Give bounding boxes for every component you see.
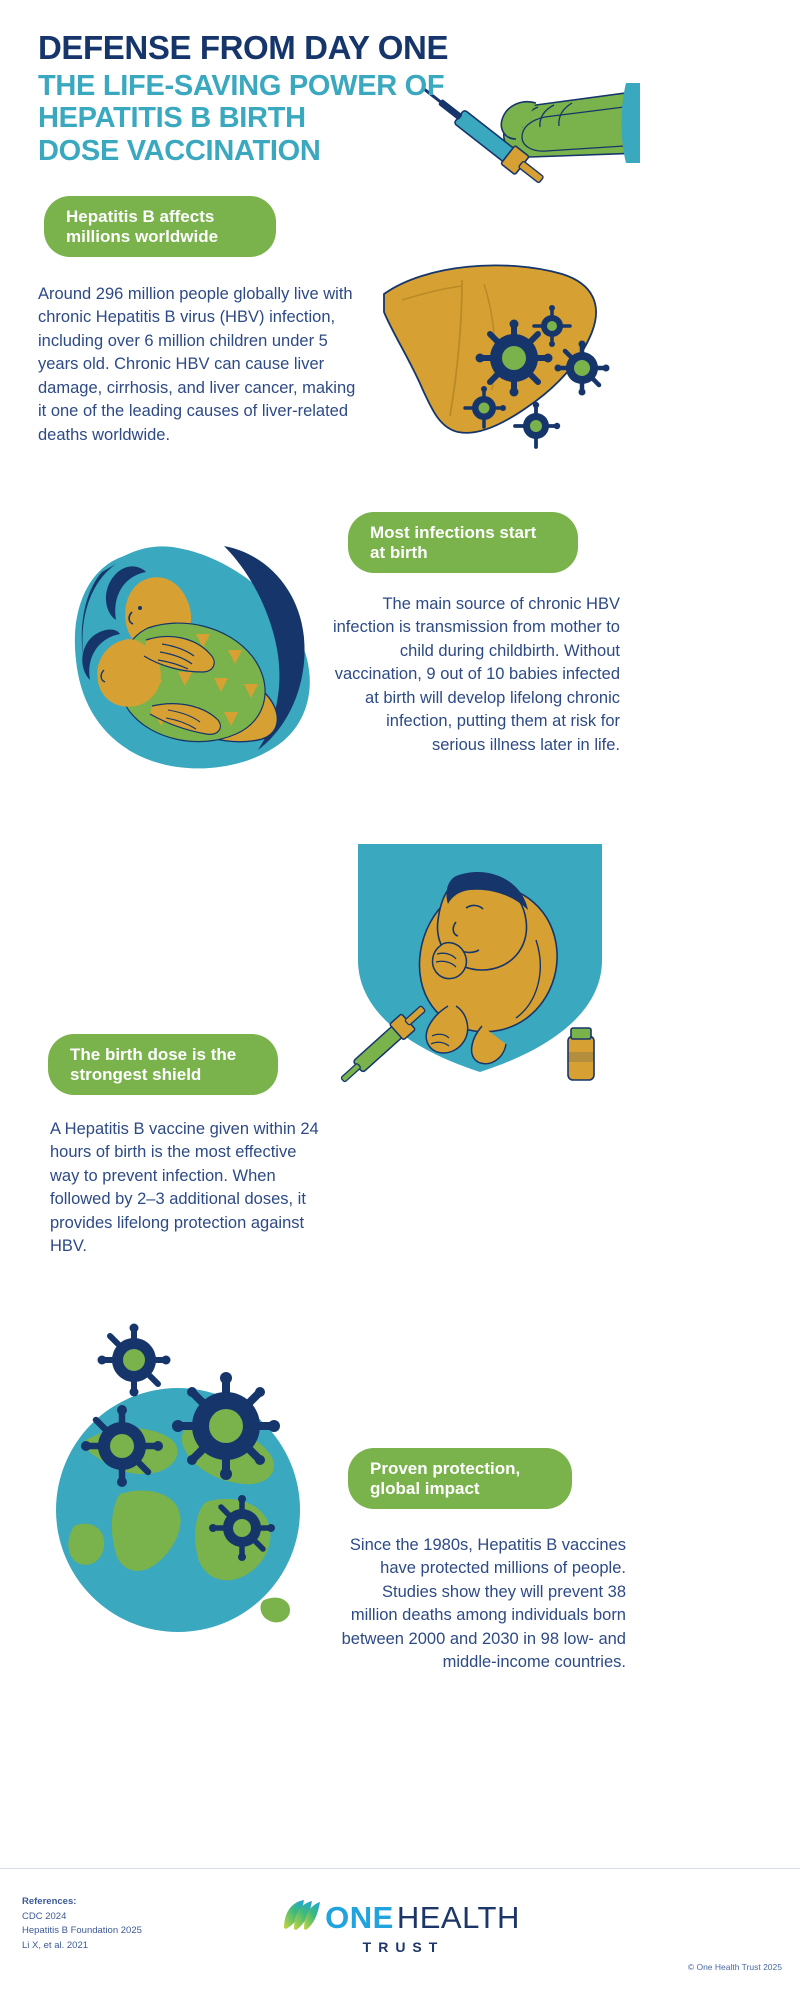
section-body-1: Around 296 million people globally live …: [38, 283, 356, 447]
infographic-page: DEFENSE FROM DAY ONE THE LIFE-SAVING POW…: [0, 0, 800, 2000]
globe-with-virus-particles-illustration: [28, 1310, 358, 1640]
leaf-icon: [280, 1898, 322, 1937]
section-body-2: The main source of chronic HBV infection…: [330, 593, 620, 757]
section-body-4: Since the 1980s, Hepatitis B vaccines ha…: [336, 1534, 626, 1675]
logo-text-one: ONE: [325, 1900, 394, 1936]
baby-in-protective-shield-illustration: [336, 830, 626, 1090]
logo-row: ONE HEALTH: [280, 1898, 520, 1937]
section-badge-2: Most infections start at birth: [348, 512, 578, 573]
page-subtitle: THE LIFE-SAVING POWER OF HEPATITIS B BIR…: [38, 70, 508, 167]
section-body-3: A Hepatitis B vaccine given within 24 ho…: [50, 1118, 330, 1259]
page-title: DEFENSE FROM DAY ONE: [38, 30, 508, 66]
liver-with-virus-particles-illustration: [366, 240, 626, 490]
section-badge-3: The birth dose is the strongest shield: [48, 1034, 278, 1095]
footer-divider: [0, 1868, 800, 1869]
section-badge-1: Hepatitis B affects millions worldwide: [44, 196, 276, 257]
section-badge-4-final: Proven protection, global impact: [348, 1448, 572, 1509]
page-header: DEFENSE FROM DAY ONE THE LIFE-SAVING POW…: [38, 30, 508, 167]
mother-holding-baby-illustration: [28, 520, 328, 800]
page-subtitle-line-3: DOSE VACCINATION: [38, 135, 508, 167]
page-subtitle-line-2: HEPATITIS B BIRTH: [38, 102, 508, 134]
one-health-trust-logo: ONE HEALTH TRUST: [0, 1898, 800, 1955]
page-subtitle-line-1: THE LIFE-SAVING POWER OF: [38, 70, 508, 102]
copyright-text: © One Health Trust 2025: [688, 1962, 782, 1972]
logo-text-health: HEALTH: [397, 1900, 520, 1936]
logo-text-trust: TRUST: [356, 1939, 445, 1955]
